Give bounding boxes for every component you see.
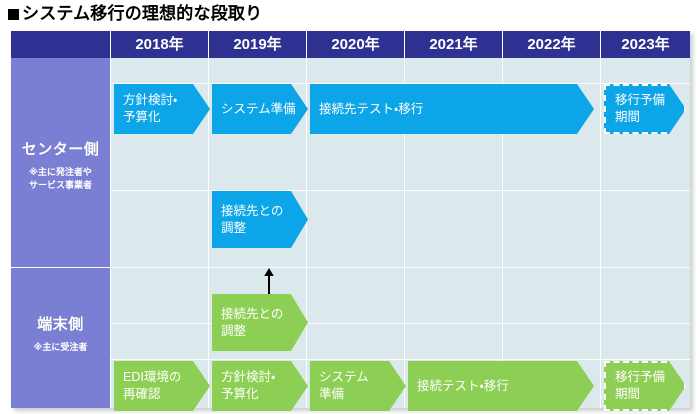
bar-label-line2: 調整 [221, 221, 246, 235]
bar-label-line2: 再確認 [123, 387, 161, 401]
bar-setsuzokusaki-chousei-terminal[interactable]: 接続先との 調整 [212, 294, 308, 351]
bar-ikou-yobi-kikan-center[interactable]: 移行予備 期間 [604, 84, 686, 134]
page-title: システム移行の理想的な段取り [8, 2, 262, 26]
row-note-terminal-line1: ※主に受注者 [34, 342, 88, 352]
row-note-center-line2: サービス事業者 [29, 180, 92, 190]
year-header-2023: 2023年 [600, 31, 690, 58]
bar-setsuzokusaki-chousei-center[interactable]: 接続先との 調整 [212, 191, 308, 248]
bar-label-line1: システム準備 [221, 102, 296, 116]
bar-label-line2: 予算化 [123, 110, 161, 124]
row-divider [11, 267, 690, 268]
bar-setsuzoku-test-ikou[interactable]: 接続テスト・移行 [408, 361, 594, 411]
bar-label-line2: 期間 [615, 387, 640, 401]
year-header-row: 2018年 2019年 2020年 2021年 2022年 2023年 [11, 31, 690, 58]
row-note-center-line1: ※主に発注者や [29, 167, 92, 177]
row-label-terminal-side: 端末側 ※主に受注者 [11, 268, 110, 408]
gridline-horizontal [110, 190, 690, 191]
bar-label-line1: 接続先との [221, 204, 283, 218]
row-label-center-side: センター側 ※主に発注者や サービス事業者 [11, 58, 110, 267]
gridline-horizontal [110, 323, 690, 324]
bar-ikou-yobi-kikan-terminal[interactable]: 移行予備 期間 [604, 361, 686, 411]
bar-houshin-kentou-yosanka[interactable]: 方針検討・ 予算化 [114, 84, 210, 134]
timeline-grid: センター側 ※主に発注者や サービス事業者 端末側 ※主に受注者 方針検討・ 予… [11, 58, 690, 408]
gridline-horizontal [110, 359, 690, 360]
row-label-center-side-text: センター側 [11, 138, 110, 159]
bar-label-line1: 接続テスト・移行 [417, 379, 509, 393]
migration-timeline-chart: 2018年 2019年 2020年 2021年 2022年 2023年 センター… [11, 31, 690, 408]
bar-label-line2: 調整 [221, 324, 246, 338]
bar-label-line2: 予算化 [221, 387, 259, 401]
bar-system-junbi-terminal[interactable]: システム 準備 [310, 361, 406, 411]
bar-label-line1: 移行予備 [615, 93, 665, 107]
year-header-2020: 2020年 [306, 31, 404, 58]
bar-label-line1: 接続先テスト・移行 [319, 102, 423, 116]
bar-label-line1: システム [319, 370, 369, 384]
bullet-square-icon [8, 9, 19, 20]
bar-label-line2: 期間 [615, 110, 640, 124]
bar-setsuzokusaki-test-ikou[interactable]: 接続先テスト・移行 [310, 84, 594, 134]
bar-houshin-kentou-yosanka-terminal[interactable]: 方針検討・ 予算化 [212, 361, 308, 411]
bar-system-junbi[interactable]: システム準備 [212, 84, 308, 134]
bar-label-line1: 接続先との [221, 307, 283, 321]
year-header-2022: 2022年 [502, 31, 600, 58]
bar-label-line1: 方針検討・ [221, 370, 275, 384]
year-header-2018: 2018年 [110, 31, 208, 58]
gridline-vertical [600, 58, 601, 408]
bar-label-line1: EDI環境の [123, 370, 181, 384]
bar-label-line1: 移行予備 [615, 370, 665, 384]
bar-label-line2: 準備 [319, 387, 344, 401]
year-header-2021: 2021年 [404, 31, 502, 58]
bar-label-line1: 方針検討・ [123, 93, 177, 107]
year-header-2019: 2019年 [208, 31, 306, 58]
bar-edi-kankyou-saikakunin[interactable]: EDI環境の 再確認 [114, 361, 210, 411]
gridline-horizontal [110, 83, 690, 84]
page-title-text: システム移行の理想的な段取り [22, 4, 262, 23]
gridline-vertical [110, 58, 111, 408]
header-corner-cell [11, 31, 110, 58]
row-label-terminal-side-text: 端末側 [11, 313, 110, 334]
